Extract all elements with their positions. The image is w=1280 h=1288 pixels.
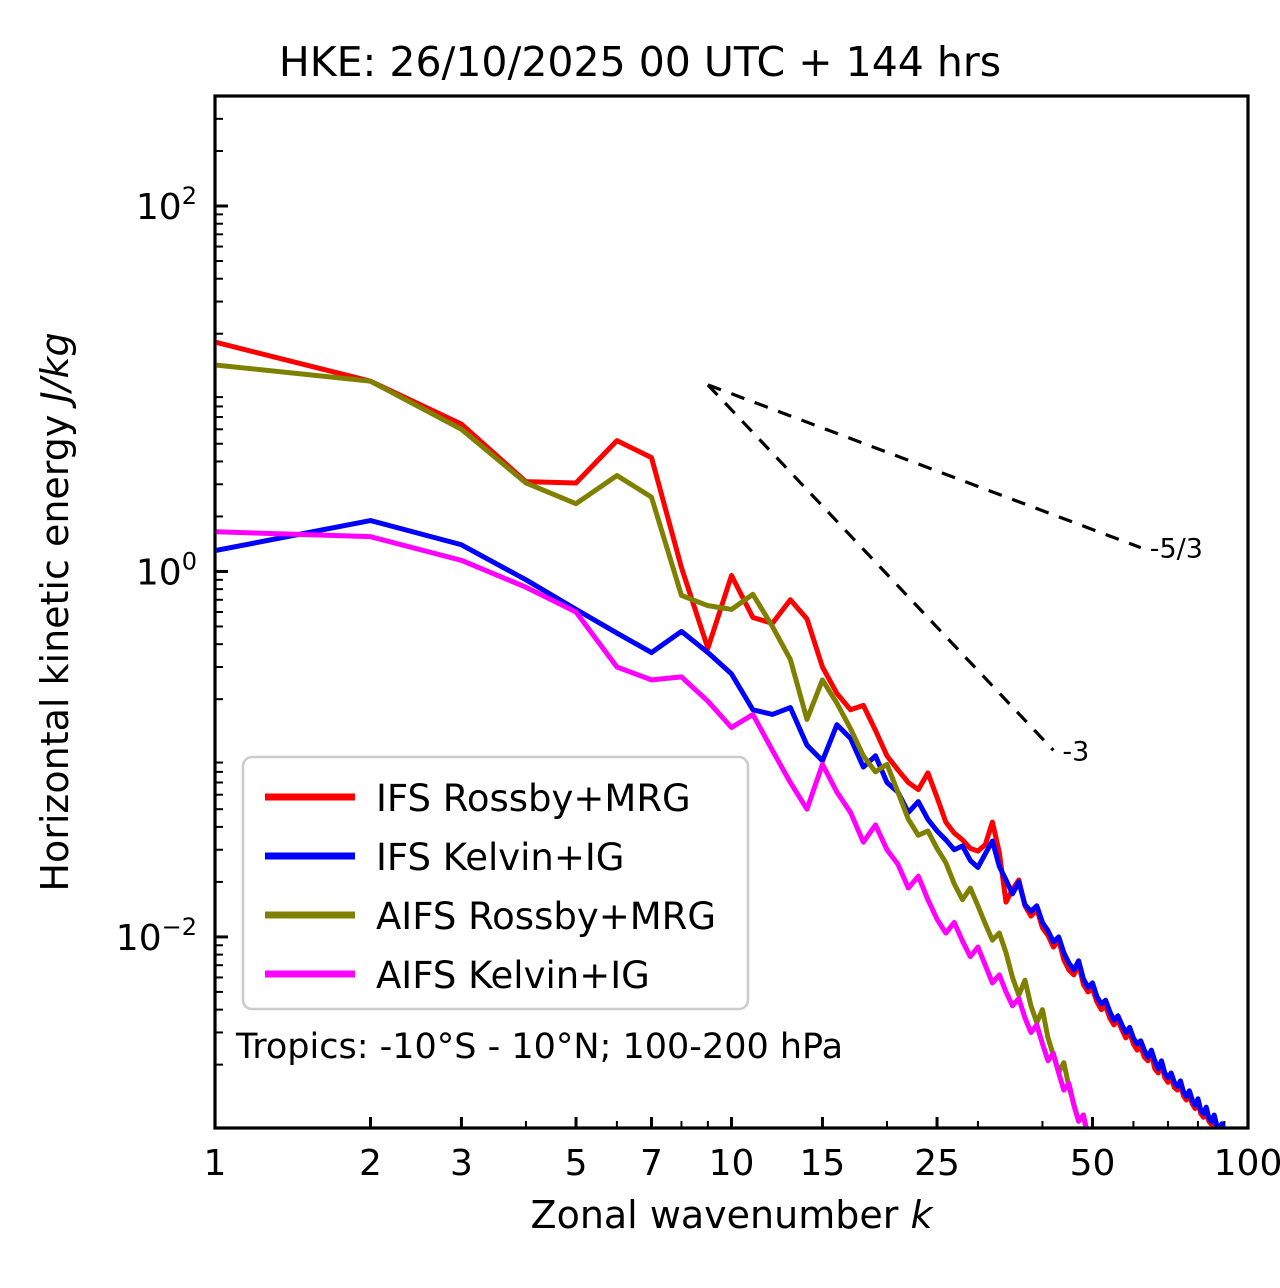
region-annotation: Tropics: -10°S - 10°N; 100-200 hPa — [235, 1027, 843, 1067]
x-tick-label: 5 — [565, 1143, 588, 1184]
legend-label: AIFS Kelvin+IG — [376, 954, 650, 997]
x-tick-label: 1 — [204, 1143, 227, 1184]
x-tick-label: 7 — [640, 1143, 663, 1184]
x-axis-label: Zonal wavenumber k — [531, 1193, 935, 1237]
x-tick-label: 10 — [709, 1143, 755, 1184]
y-tick-label: 10−2 — [116, 913, 197, 959]
y-tick-label: 102 — [136, 182, 197, 228]
spectrum-plot: 123571015255010010210010−2 -5/3-3 Zonal … — [0, 0, 1280, 1288]
y-tick-label: 100 — [136, 547, 197, 593]
x-tick-label: 100 — [1214, 1143, 1280, 1184]
x-tick-label: 15 — [800, 1143, 846, 1184]
legend-label: IFS Kelvin+IG — [376, 836, 624, 879]
x-tick-label: 3 — [450, 1143, 473, 1184]
x-tick-label: 50 — [1070, 1143, 1116, 1184]
x-tick-label: 25 — [914, 1143, 960, 1184]
legend-label: IFS Rossby+MRG — [376, 777, 691, 820]
reference-line-label: -5/3 — [1150, 534, 1203, 565]
x-tick-label: 2 — [359, 1143, 382, 1184]
legend-box: IFS Rossby+MRGIFS Kelvin+IGAIFS Rossby+M… — [243, 757, 748, 1009]
figure-canvas: HKE: 26/10/2025 00 UTC + 144 hrs 1235710… — [0, 0, 1280, 1288]
y-axis-label: Horizontal kinetic energy J/kg — [33, 332, 77, 891]
reference-line-label: -3 — [1062, 736, 1089, 767]
legend-label: AIFS Rossby+MRG — [376, 895, 716, 938]
axes-layer: 123571015255010010210010−2 — [116, 96, 1280, 1184]
